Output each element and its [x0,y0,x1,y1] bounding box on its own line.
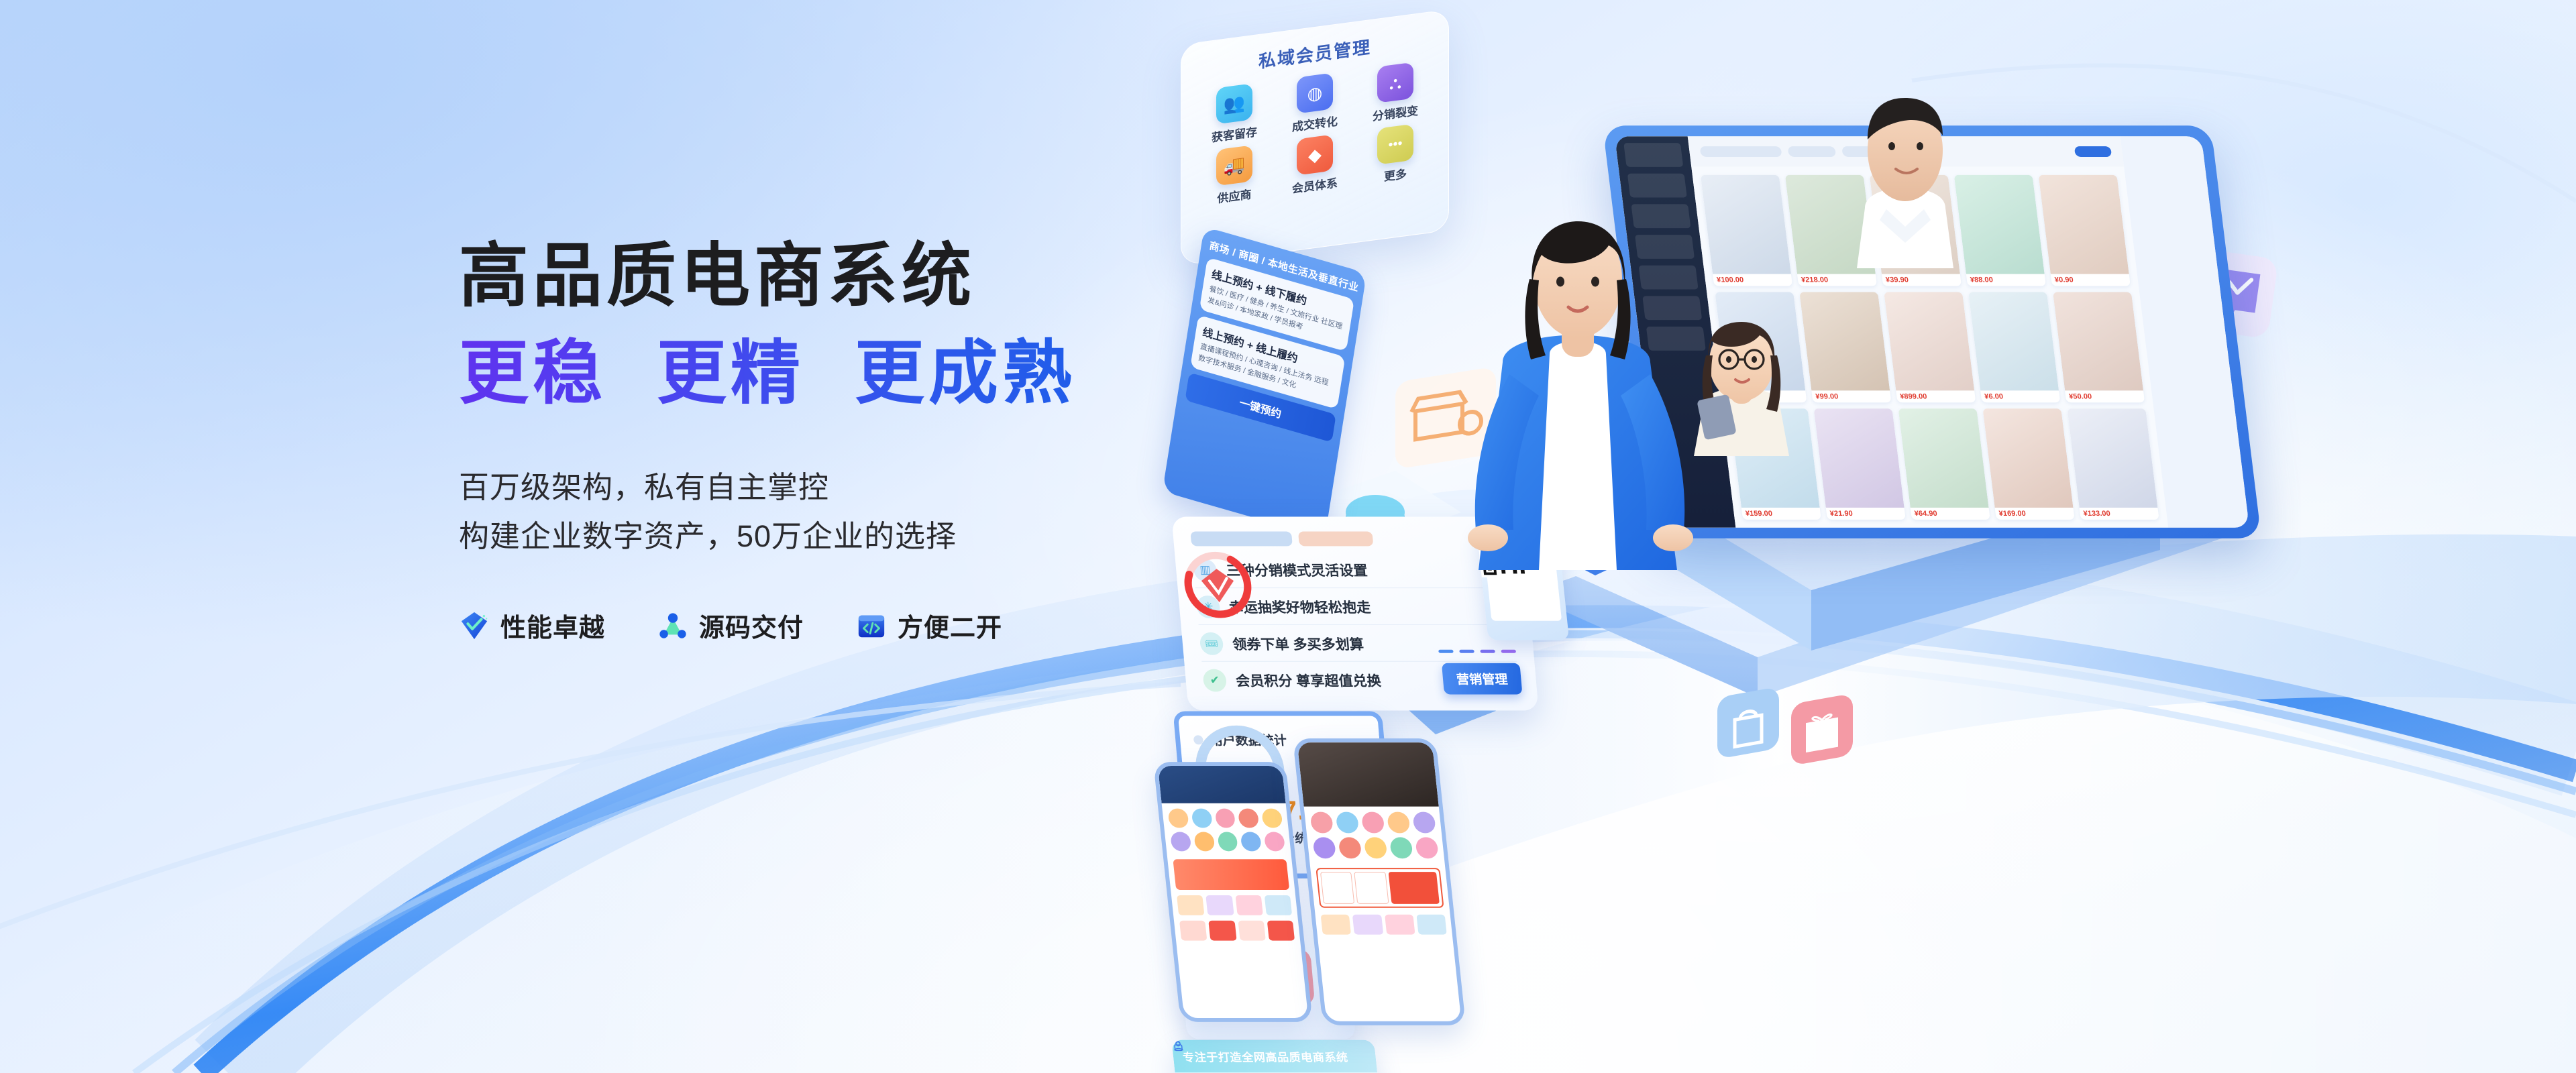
phone-tile[interactable] [1267,920,1295,940]
diamond-check-icon [459,610,490,641]
marketing-row-text: 会员积分 尊享超值兑换 [1235,671,1382,691]
feature-label: 性能卓越 [500,607,605,644]
lock-icon [1171,1040,1185,1052]
phone-tile[interactable] [1177,895,1205,915]
feature-label: 源码交付 [699,607,804,644]
phone-tile[interactable] [1235,895,1263,915]
member-feature-conversion[interactable]: ◍ 成交转化 [1278,70,1352,136]
phone-tile[interactable] [1352,915,1383,935]
phone-icon[interactable] [1412,812,1436,834]
member-management-card: 私域会员管理 👥 获客留存 ◍ 成交转化 ⛬ 分销裂变 🚚 供应商 [1181,9,1449,266]
member-feature-label: 分销裂变 [1373,101,1418,124]
phone-tile[interactable] [1179,920,1207,940]
avatar-male [1825,67,1999,268]
member-feature-label: 会员体系 [1292,174,1338,196]
phone-icon[interactable] [1415,837,1439,858]
product-tile[interactable]: ¥50.00 [2053,292,2145,402]
phone-icon[interactable] [1264,832,1285,851]
product-tile[interactable]: ¥21.90 [1814,408,1906,519]
sidebar-item[interactable] [1623,143,1683,167]
phone-icon[interactable] [1364,837,1388,858]
phone-icon[interactable] [1310,812,1334,834]
phone-icon[interactable] [1261,809,1283,828]
phone-icon[interactable] [1361,812,1385,834]
phone-promo-banner[interactable] [1173,859,1289,890]
phone-icon[interactable] [1167,809,1189,828]
phone-mockup-right [1293,738,1466,1025]
member-feature-more[interactable]: ••• 更多 [1358,121,1432,187]
phone-icon[interactable] [1387,812,1411,834]
toolbar-pill [1700,146,1782,157]
users-icon: 👥 [1216,83,1252,124]
phone-mockup-left [1153,762,1313,1022]
product-tile[interactable]: ¥899.00 [1884,292,1976,402]
phone-tile[interactable] [1206,895,1234,915]
hero-banner: 高品质电商系统 更稳 更精 更成熟 百万级架构，私有自主掌控 构建企业数字资产，… [0,0,2576,1073]
product-tile[interactable]: ¥133.00 [2067,408,2159,519]
marketing-row[interactable]: 🎟 领券下单 多买多划算 [1199,626,1517,662]
phone-tile[interactable] [1238,920,1266,940]
login-card-header: 专注于打造全网高品质电商系统 [1171,1040,1377,1073]
phone-coupon-row [1316,868,1444,908]
feature-performance[interactable]: 性能卓越 [459,607,605,644]
vip-diamond-icon: ◆ [1297,134,1333,175]
phone-tile[interactable] [1416,915,1447,935]
nodes-network-icon [657,610,688,641]
phone-icon[interactable] [1193,832,1215,851]
truck-icon: 🚚 [1216,145,1252,186]
product-tile[interactable]: ¥169.00 [1983,408,2075,519]
login-card: 专注于打造全网高品质电商系统 请输入您的用户名/手机号 请输入密码 [1171,1040,1391,1073]
member-feature-label: 供应商 [1218,184,1252,206]
phone-icon[interactable] [1338,837,1362,858]
phone-tile[interactable] [1321,915,1352,935]
subtitle-part-3: 更成熟 [855,335,1076,412]
marketing-row-text: 领券下单 多买多划算 [1232,634,1364,654]
phone-icon[interactable] [1217,832,1238,851]
phone-tile[interactable] [1264,895,1292,915]
marketing-management-button[interactable]: 营销管理 [1442,663,1523,695]
subtitle-part-2: 更精 [657,335,804,412]
member-feature-grid: 👥 获客留存 ◍ 成交转化 ⛬ 分销裂变 🚚 供应商 ◆ 会员体系 [1197,60,1432,209]
coupon-cta[interactable] [1388,872,1440,904]
hero-illustration: ¥ [1181,27,2576,1073]
ring-diamond-decoration [1174,545,1262,625]
phone-tile-row [1315,912,1452,938]
phone-icon[interactable] [1238,809,1259,828]
phone-icon[interactable] [1336,812,1360,834]
phone-icon[interactable] [1240,832,1262,851]
phone-icon-grid [1304,807,1445,864]
package-sync-icon: ◍ [1297,72,1333,113]
org-tree-icon: ⛬ [1377,62,1413,103]
member-feature-vip[interactable]: ◆ 会员体系 [1278,132,1352,198]
member-feature-label: 更多 [1384,164,1407,184]
member-feature-supplier[interactable]: 🚚 供应商 [1197,143,1271,209]
coupon-item[interactable] [1354,872,1389,904]
avatar-3d-assistant [1680,315,1801,463]
placeholder-bar [1298,531,1373,546]
feature-secondary-dev[interactable]: 方便二开 [856,607,1002,644]
placeholder-bar [1190,531,1292,546]
badge-check-icon: ✔ [1202,669,1227,692]
phone-tile-row [1174,917,1301,943]
phone-icon[interactable] [1214,809,1236,828]
product-tile[interactable]: ¥6.00 [1968,292,2060,402]
phone-tile[interactable] [1208,920,1236,940]
member-feature-acquire[interactable]: 👥 获客留存 [1197,81,1271,147]
code-window-icon [856,610,887,641]
subtitle-part-1: 更稳 [459,335,606,412]
phone-tile-row [1171,893,1298,918]
phone-banner [1297,742,1439,806]
phone-banner [1158,766,1286,803]
phone-icon[interactable] [1191,809,1212,828]
phone-icon[interactable] [1389,837,1413,858]
coupon-icon: 🎟 [1199,632,1224,655]
phone-icon-grid [1162,803,1291,856]
coupon-item[interactable] [1320,872,1355,904]
phone-tile[interactable] [1385,915,1415,935]
toolbar-action[interactable] [2074,146,2112,157]
product-tile[interactable]: ¥99.00 [1799,292,1891,402]
feature-label: 方便二开 [898,607,1002,644]
phone-icon[interactable] [1170,832,1191,851]
member-feature-distribution[interactable]: ⛬ 分销裂变 [1358,60,1432,125]
ellipsis-icon: ••• [1377,124,1413,165]
dashed-divider [1438,650,1516,653]
member-feature-label: 成交转化 [1292,112,1338,135]
phone-icon[interactable] [1312,837,1336,858]
product-tile[interactable]: ¥0.90 [2039,175,2131,286]
feature-source-code[interactable]: 源码交付 [657,607,804,644]
product-tile[interactable]: ¥64.90 [1898,408,1990,519]
member-feature-label: 获客留存 [1212,122,1257,145]
